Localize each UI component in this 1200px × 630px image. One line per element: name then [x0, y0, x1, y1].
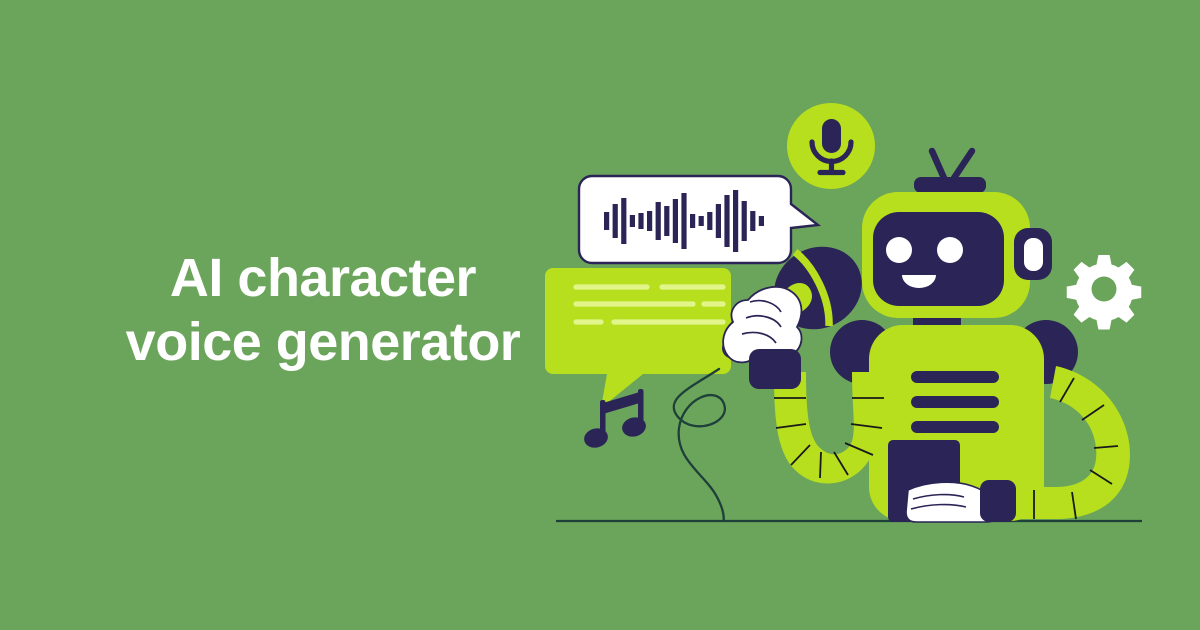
waveform-bar — [742, 201, 747, 241]
robot-ear-panel-inner — [1024, 238, 1043, 271]
waveform-bar — [690, 214, 695, 228]
gear-icon — [1067, 255, 1142, 330]
waveform-bar — [656, 202, 661, 240]
robot-hand-lower — [906, 480, 1016, 522]
waveform-bar — [707, 212, 712, 230]
robot-character — [774, 151, 1130, 522]
robot-eye-right — [937, 237, 963, 263]
waveform-bar — [664, 206, 669, 236]
waveform-bar — [750, 211, 755, 231]
ai-voice-robot-illustration — [0, 0, 1200, 630]
microphone-badge — [787, 103, 875, 189]
waveform-bar — [613, 204, 618, 238]
waveform-bar — [681, 193, 686, 249]
chat-bubble-lines — [545, 268, 731, 408]
waveform-bar — [699, 216, 704, 226]
speech-bubble-waveform — [579, 176, 818, 263]
robot-chest-bars — [911, 371, 999, 433]
waveform-bar — [647, 211, 652, 231]
waveform-bar — [733, 190, 738, 252]
robot-antenna-base — [914, 177, 986, 193]
waveform-bar — [638, 213, 643, 229]
microphone-cable — [674, 369, 725, 521]
waveform-bar — [630, 215, 635, 227]
waveform-bar — [724, 195, 729, 247]
waveform-bar — [759, 216, 764, 226]
robot-antenna — [932, 151, 972, 178]
music-note-icon — [582, 389, 648, 450]
waveform-bar — [716, 204, 721, 238]
waveform-bar — [673, 199, 678, 243]
robot-eye-left — [886, 237, 912, 263]
waveform-bar — [604, 212, 609, 230]
waveform-bar — [621, 198, 626, 244]
banner: AI character voice generator — [0, 0, 1200, 630]
